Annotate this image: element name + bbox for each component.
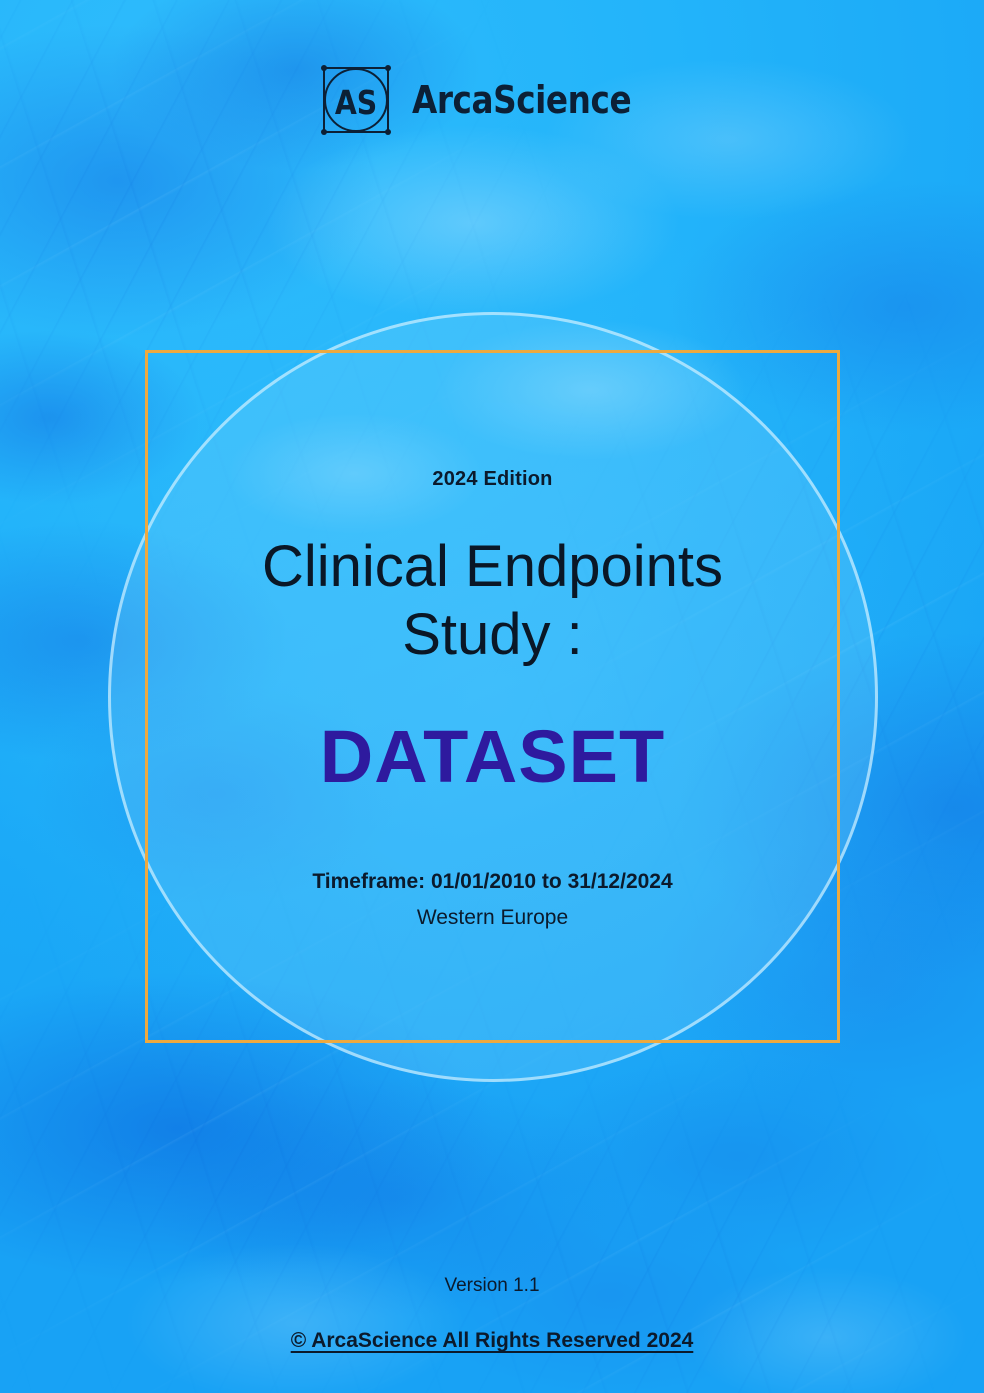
brand-logo: AS ArcaScience: [0, 62, 984, 138]
region-label: Western Europe: [417, 906, 568, 930]
cover-content-block: 2024 Edition Clinical Endpoints Study : …: [145, 350, 840, 1043]
brand-name-text: ArcaScience: [412, 81, 631, 119]
cover-title: Clinical Endpoints Study :: [213, 533, 773, 670]
timeframe-label: Timeframe: 01/01/2010 to 31/12/2024: [312, 870, 672, 894]
version-label: Version 1.1: [0, 1275, 984, 1297]
cover-subject: DATASET: [320, 720, 665, 794]
document-cover-page: AS ArcaScience 2024 Edition Clinical End…: [0, 0, 984, 1393]
logo-monogram-text: AS: [334, 84, 376, 123]
square-circle-logo-icon: AS: [318, 62, 394, 138]
cover-footer: Version 1.1 © ArcaScience All Rights Res…: [0, 1275, 984, 1353]
copyright-notice: © ArcaScience All Rights Reserved 2024: [0, 1329, 984, 1353]
edition-label: 2024 Edition: [432, 468, 552, 491]
